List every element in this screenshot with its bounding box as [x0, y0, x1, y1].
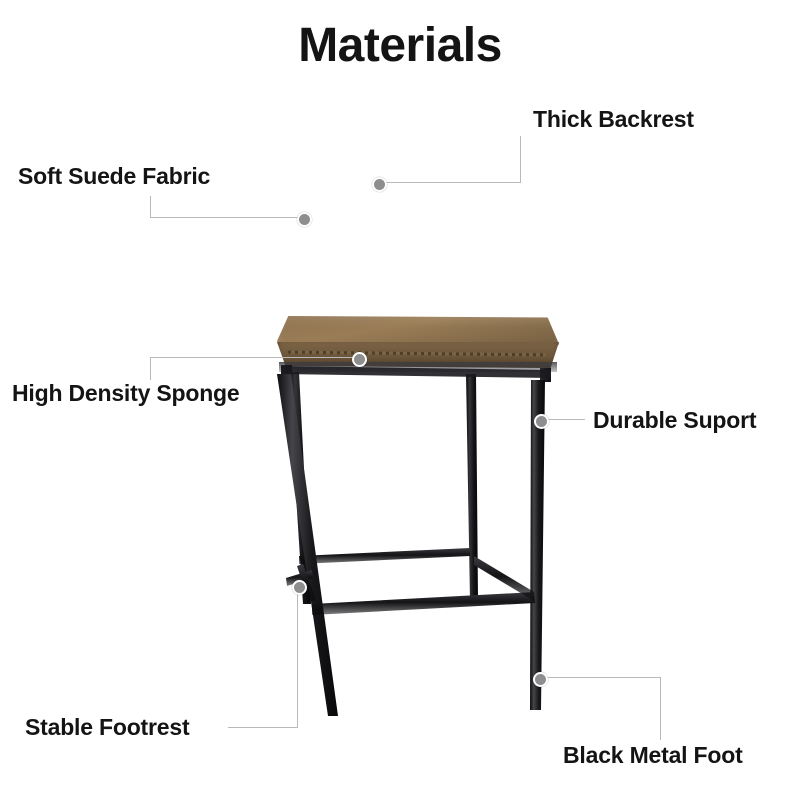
leader-sponge-vertical — [150, 357, 151, 380]
leader-sponge-horizontal — [150, 357, 357, 358]
leader-stable-footrest-vertical — [297, 585, 298, 728]
leg-front-right — [530, 380, 545, 710]
marker-durable-suport[interactable] — [534, 414, 549, 429]
callout-label-high-density-sponge: High Density Sponge — [12, 380, 240, 407]
leader-stable-footrest-horizontal — [228, 727, 298, 728]
leader-soft-suede-vertical — [150, 196, 151, 218]
marker-black-metal-foot[interactable] — [533, 672, 548, 687]
leader-black-metal-foot-vertical — [660, 677, 661, 740]
callout-label-durable-suport: Durable Suport — [593, 407, 756, 434]
rail-rear — [299, 548, 470, 564]
leader-black-metal-foot-horizontal — [538, 677, 660, 678]
leader-soft-suede-horizontal — [150, 217, 302, 218]
marker-stable-footrest[interactable] — [292, 580, 307, 595]
leader-thick-backrest-horizontal — [377, 182, 521, 183]
leader-thick-backrest-vertical — [520, 136, 521, 183]
seat-frame-edge — [281, 366, 551, 378]
leg-front-left — [277, 374, 338, 716]
footrest-rail-front — [312, 592, 535, 615]
marker-soft-suede-fabric[interactable] — [297, 212, 312, 227]
marker-thick-backrest[interactable] — [372, 177, 387, 192]
callout-label-thick-backrest: Thick Backrest — [533, 106, 694, 133]
callout-label-soft-suede-fabric: Soft Suede Fabric — [18, 163, 210, 190]
callout-label-black-metal-foot: Black Metal Foot — [563, 742, 743, 769]
callout-label-stable-footrest: Stable Footrest — [25, 714, 189, 741]
marker-high-density-sponge[interactable] — [352, 352, 367, 367]
materials-infographic: Materials — [0, 0, 800, 800]
